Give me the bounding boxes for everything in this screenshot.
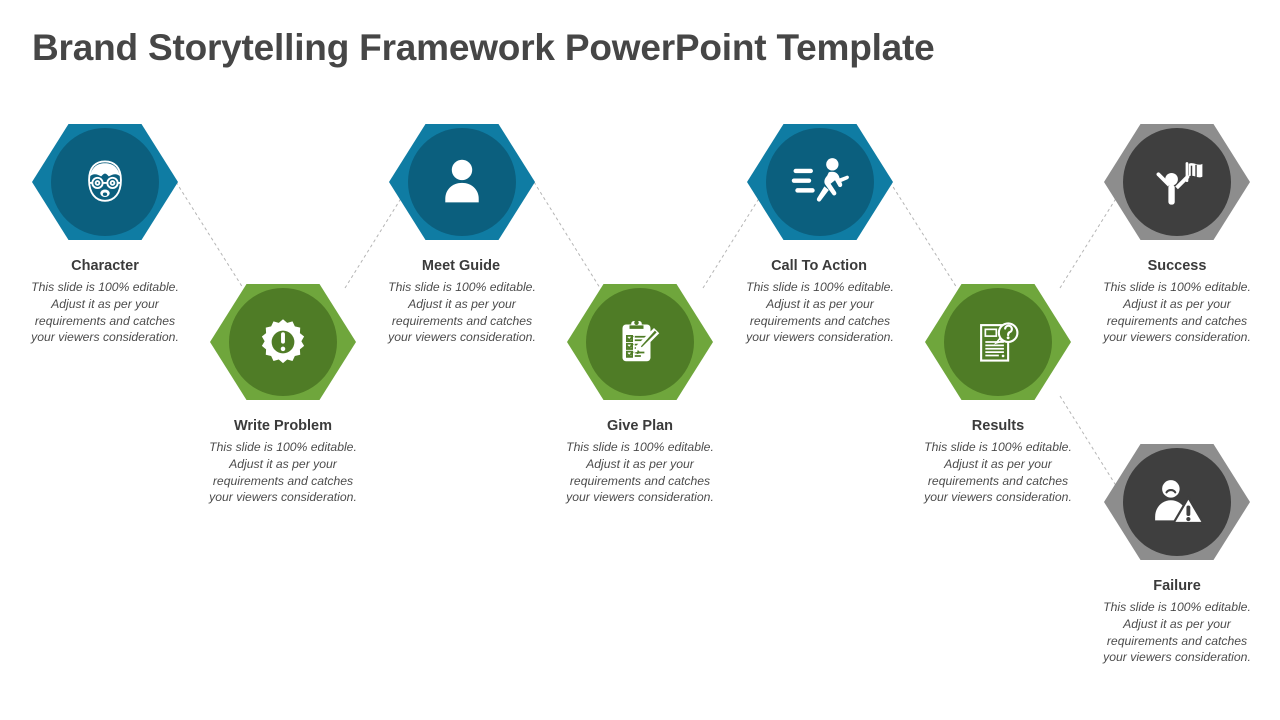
hexagon-write-problem[interactable]	[210, 284, 356, 400]
document-question-icon	[925, 284, 1071, 400]
hexagon-results[interactable]	[925, 284, 1071, 400]
node-description: This slide is 100% editable. Adjust it a…	[557, 439, 723, 506]
node-label: Call To Action	[719, 258, 919, 274]
person-icon	[389, 124, 535, 240]
node-description: This slide is 100% editable. Adjust it a…	[1094, 599, 1260, 666]
node-description: This slide is 100% editable. Adjust it a…	[737, 279, 903, 346]
running-person-icon	[747, 124, 893, 240]
hexagon-character[interactable]	[32, 124, 178, 240]
node-description: This slide is 100% editable. Adjust it a…	[1094, 279, 1260, 346]
node-label: Results	[898, 418, 1098, 434]
hexagon-give-plan[interactable]	[567, 284, 713, 400]
face-with-glasses-icon	[32, 124, 178, 240]
node-description: This slide is 100% editable. Adjust it a…	[379, 279, 545, 346]
clipboard-checklist-pencil-icon	[567, 284, 713, 400]
node-description: This slide is 100% editable. Adjust it a…	[915, 439, 1081, 506]
node-label: Success	[1077, 258, 1277, 274]
node-description: This slide is 100% editable. Adjust it a…	[200, 439, 366, 506]
node-description: This slide is 100% editable. Adjust it a…	[22, 279, 188, 346]
person-with-flag-icon	[1104, 124, 1250, 240]
hexagon-failure[interactable]	[1104, 444, 1250, 560]
slide-canvas: Brand Storytelling Framework PowerPoint …	[0, 0, 1280, 720]
node-label: Give Plan	[540, 418, 740, 434]
hexagon-call-to-action[interactable]	[747, 124, 893, 240]
node-label: Failure	[1077, 578, 1277, 594]
node-label: Character	[5, 258, 205, 274]
node-label: Meet Guide	[361, 258, 561, 274]
gear-exclamation-icon	[210, 284, 356, 400]
hexagon-meet-guide[interactable]	[389, 124, 535, 240]
node-label: Write Problem	[183, 418, 383, 434]
hexagon-success[interactable]	[1104, 124, 1250, 240]
sad-person-warning-icon	[1104, 444, 1250, 560]
